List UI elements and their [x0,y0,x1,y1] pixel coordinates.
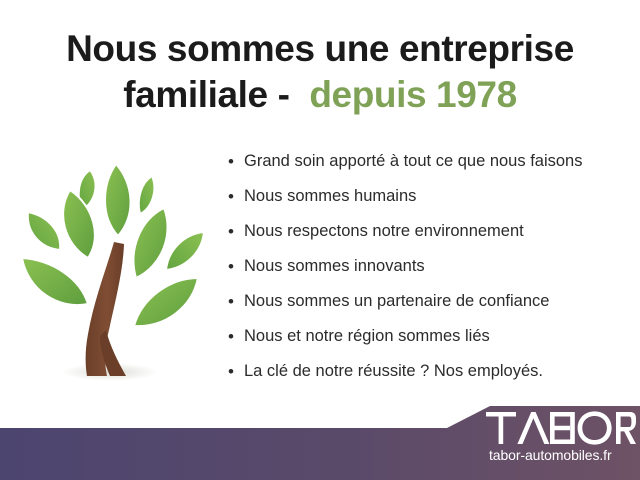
list-item: • Nous sommes un partenaire de confiance [228,290,628,325]
title-accent: depuis 1978 [309,74,516,115]
leaf-lower-right [134,278,198,326]
bullet-marker-icon: • [228,360,244,383]
list-item: • Nous et notre région sommes liés [228,325,628,360]
bullet-marker-icon: • [228,220,244,243]
leaf-lower-left [22,258,88,305]
bullet-marker-icon: • [228,185,244,208]
bullet-marker-icon: • [228,255,244,278]
benefits-list: • Grand soin apporté à tout ce que nous … [228,150,628,395]
leaf-upper-right-small [139,176,155,214]
list-item-label: Nous sommes humains [244,185,416,208]
list-item: • La clé de notre réussite ? Nos employé… [228,360,628,395]
leaf-mid-right [134,208,168,278]
title-dash: - [278,74,290,115]
list-item: • Nous sommes humains [228,185,628,220]
brand-logo[interactable]: tabor-automobiles.fr [486,411,640,471]
bullet-marker-icon: • [228,290,244,313]
bullet-marker-icon: • [228,150,244,173]
logo-tagline: tabor-automobiles.fr [489,446,639,464]
title-line-1: Nous sommes une entreprise [0,26,640,72]
slide-canvas: Nous sommes une entreprise familiale - d… [0,0,640,480]
bullet-marker-icon: • [228,325,244,348]
list-item-label: Nous sommes innovants [244,255,425,278]
list-item-label: La clé de notre réussite ? Nos employés. [244,360,543,383]
list-item-label: Nous et notre région sommes liés [244,325,490,348]
list-item: • Grand soin apporté à tout ce que nous … [228,150,628,185]
leaf-far-left [28,212,60,250]
leaf-far-right [166,232,204,270]
list-item: • Nous respectons notre environnement [228,220,628,255]
title-line-2-prefix: familiale [123,74,267,115]
page-title: Nous sommes une entreprise familiale - d… [0,26,640,118]
list-item-label: Nous sommes un partenaire de confiance [244,290,549,313]
tree-logo-illustration [14,150,219,385]
leaf-top-center [105,164,131,236]
tabor-wordmark [486,411,636,445]
list-item-label: Grand soin apporté à tout ce que nous fa… [244,150,582,173]
list-item-label: Nous respectons notre environnement [244,220,524,243]
list-item: • Nous sommes innovants [228,255,628,290]
title-line-2: familiale - depuis 1978 [0,72,640,118]
